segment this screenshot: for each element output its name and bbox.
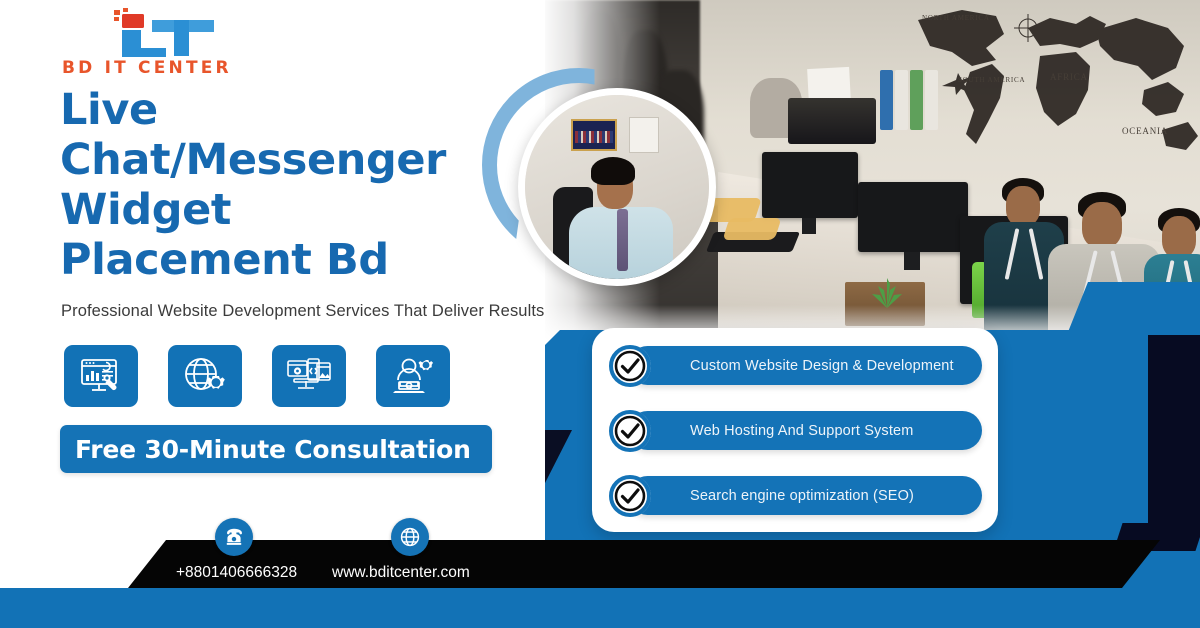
plant-leaves-icon: [870, 268, 904, 308]
feature-item[interactable]: Search engine optimization (SEO): [608, 474, 982, 518]
globe-gear-glyph: [183, 357, 227, 395]
website-url: www.bditcenter.com: [332, 564, 470, 582]
desk-plant: [870, 268, 904, 308]
page-title: Live Chat/Messenger Widget Placement Bd: [60, 86, 460, 286]
check-circle-glyph: [608, 409, 652, 453]
web-design-screens-glyph: [286, 357, 332, 395]
map-label-south-america: SOUTH AMERICA: [958, 76, 1025, 84]
executive-portrait: [518, 88, 716, 286]
wall-photo-frame: [571, 119, 617, 151]
feature-list-card: Custom Website Design & Development Web …: [592, 328, 998, 532]
globe-icon[interactable]: [391, 518, 429, 556]
cta-button[interactable]: Free 30-Minute Consultation: [60, 425, 492, 473]
feature-label: Search engine optimization (SEO): [690, 488, 914, 504]
world-map-svg: [900, 0, 1200, 204]
feature-pill[interactable]: Web Hosting And Support System: [628, 411, 982, 450]
globe-gear-icon[interactable]: [168, 345, 242, 407]
monitor-stand: [802, 218, 816, 234]
map-label-north-america: NORTH AMERICA: [922, 14, 990, 22]
navy-stripe: [1148, 335, 1200, 525]
map-label-oceania: OCEANIA: [1122, 126, 1168, 136]
cta-label: Free 30-Minute Consultation: [75, 435, 471, 464]
support-agent-laptop-icon[interactable]: [376, 345, 450, 407]
logo-wordmark: BD IT CENTER: [62, 58, 262, 78]
it-monogram-icon: [92, 8, 242, 60]
staff-head: [1006, 186, 1040, 226]
brand-logo[interactable]: BD IT CENTER: [62, 8, 272, 80]
check-circle-glyph: [608, 474, 652, 518]
document-folder: [880, 70, 893, 130]
map-label-africa: AFRICA: [1050, 72, 1088, 82]
web-design-screens-icon[interactable]: [272, 345, 346, 407]
promotional-banner: NORTH AMERICA SOUTH AMERICA AFRICA OCEAN…: [0, 0, 1200, 628]
document-folder: [895, 70, 908, 130]
globe-glyph: [399, 526, 421, 548]
portrait-hair: [591, 157, 635, 185]
feature-pill[interactable]: Search engine optimization (SEO): [628, 476, 982, 515]
feature-label: Web Hosting And Support System: [690, 423, 913, 439]
check-circle-icon: [608, 474, 652, 518]
subtitle: Professional Website Development Service…: [61, 302, 561, 321]
check-circle-icon: [608, 409, 652, 453]
analytics-monitor-wrench-glyph: [79, 357, 123, 395]
document-folder: [910, 70, 923, 130]
service-icon-row: [64, 345, 450, 407]
feature-item[interactable]: Web Hosting And Support System: [608, 409, 982, 453]
check-circle-icon: [608, 344, 652, 388]
contact-phone[interactable]: +8801406666328: [176, 564, 297, 582]
monitor-stand: [904, 252, 920, 270]
logo-mark-icon: [92, 8, 242, 60]
analytics-monitor-wrench-icon[interactable]: [64, 345, 138, 407]
staff-head: [1082, 202, 1122, 248]
wall-certificate: [629, 117, 659, 153]
snack-tray: [722, 218, 781, 240]
telephone-glyph: [223, 526, 245, 548]
portrait-necktie: [617, 209, 628, 271]
desktop-monitor: [858, 182, 968, 252]
bottom-blue-bar: [0, 588, 1200, 628]
phone-number: +8801406666328: [176, 564, 297, 582]
telephone-icon[interactable]: [215, 518, 253, 556]
staff-head: [1162, 216, 1196, 258]
desktop-monitor: [762, 152, 858, 218]
world-map-wall-decal: NORTH AMERICA SOUTH AMERICA AFRICA OCEAN…: [900, 0, 1200, 204]
check-circle-glyph: [608, 344, 652, 388]
document-folder: [925, 70, 938, 130]
feature-item[interactable]: Custom Website Design & Development: [608, 344, 982, 388]
office-printer: [788, 98, 876, 144]
support-agent-laptop-glyph: [391, 357, 435, 395]
feature-pill[interactable]: Custom Website Design & Development: [628, 346, 982, 385]
contact-website[interactable]: www.bditcenter.com: [332, 564, 470, 582]
feature-label: Custom Website Design & Development: [690, 358, 954, 374]
